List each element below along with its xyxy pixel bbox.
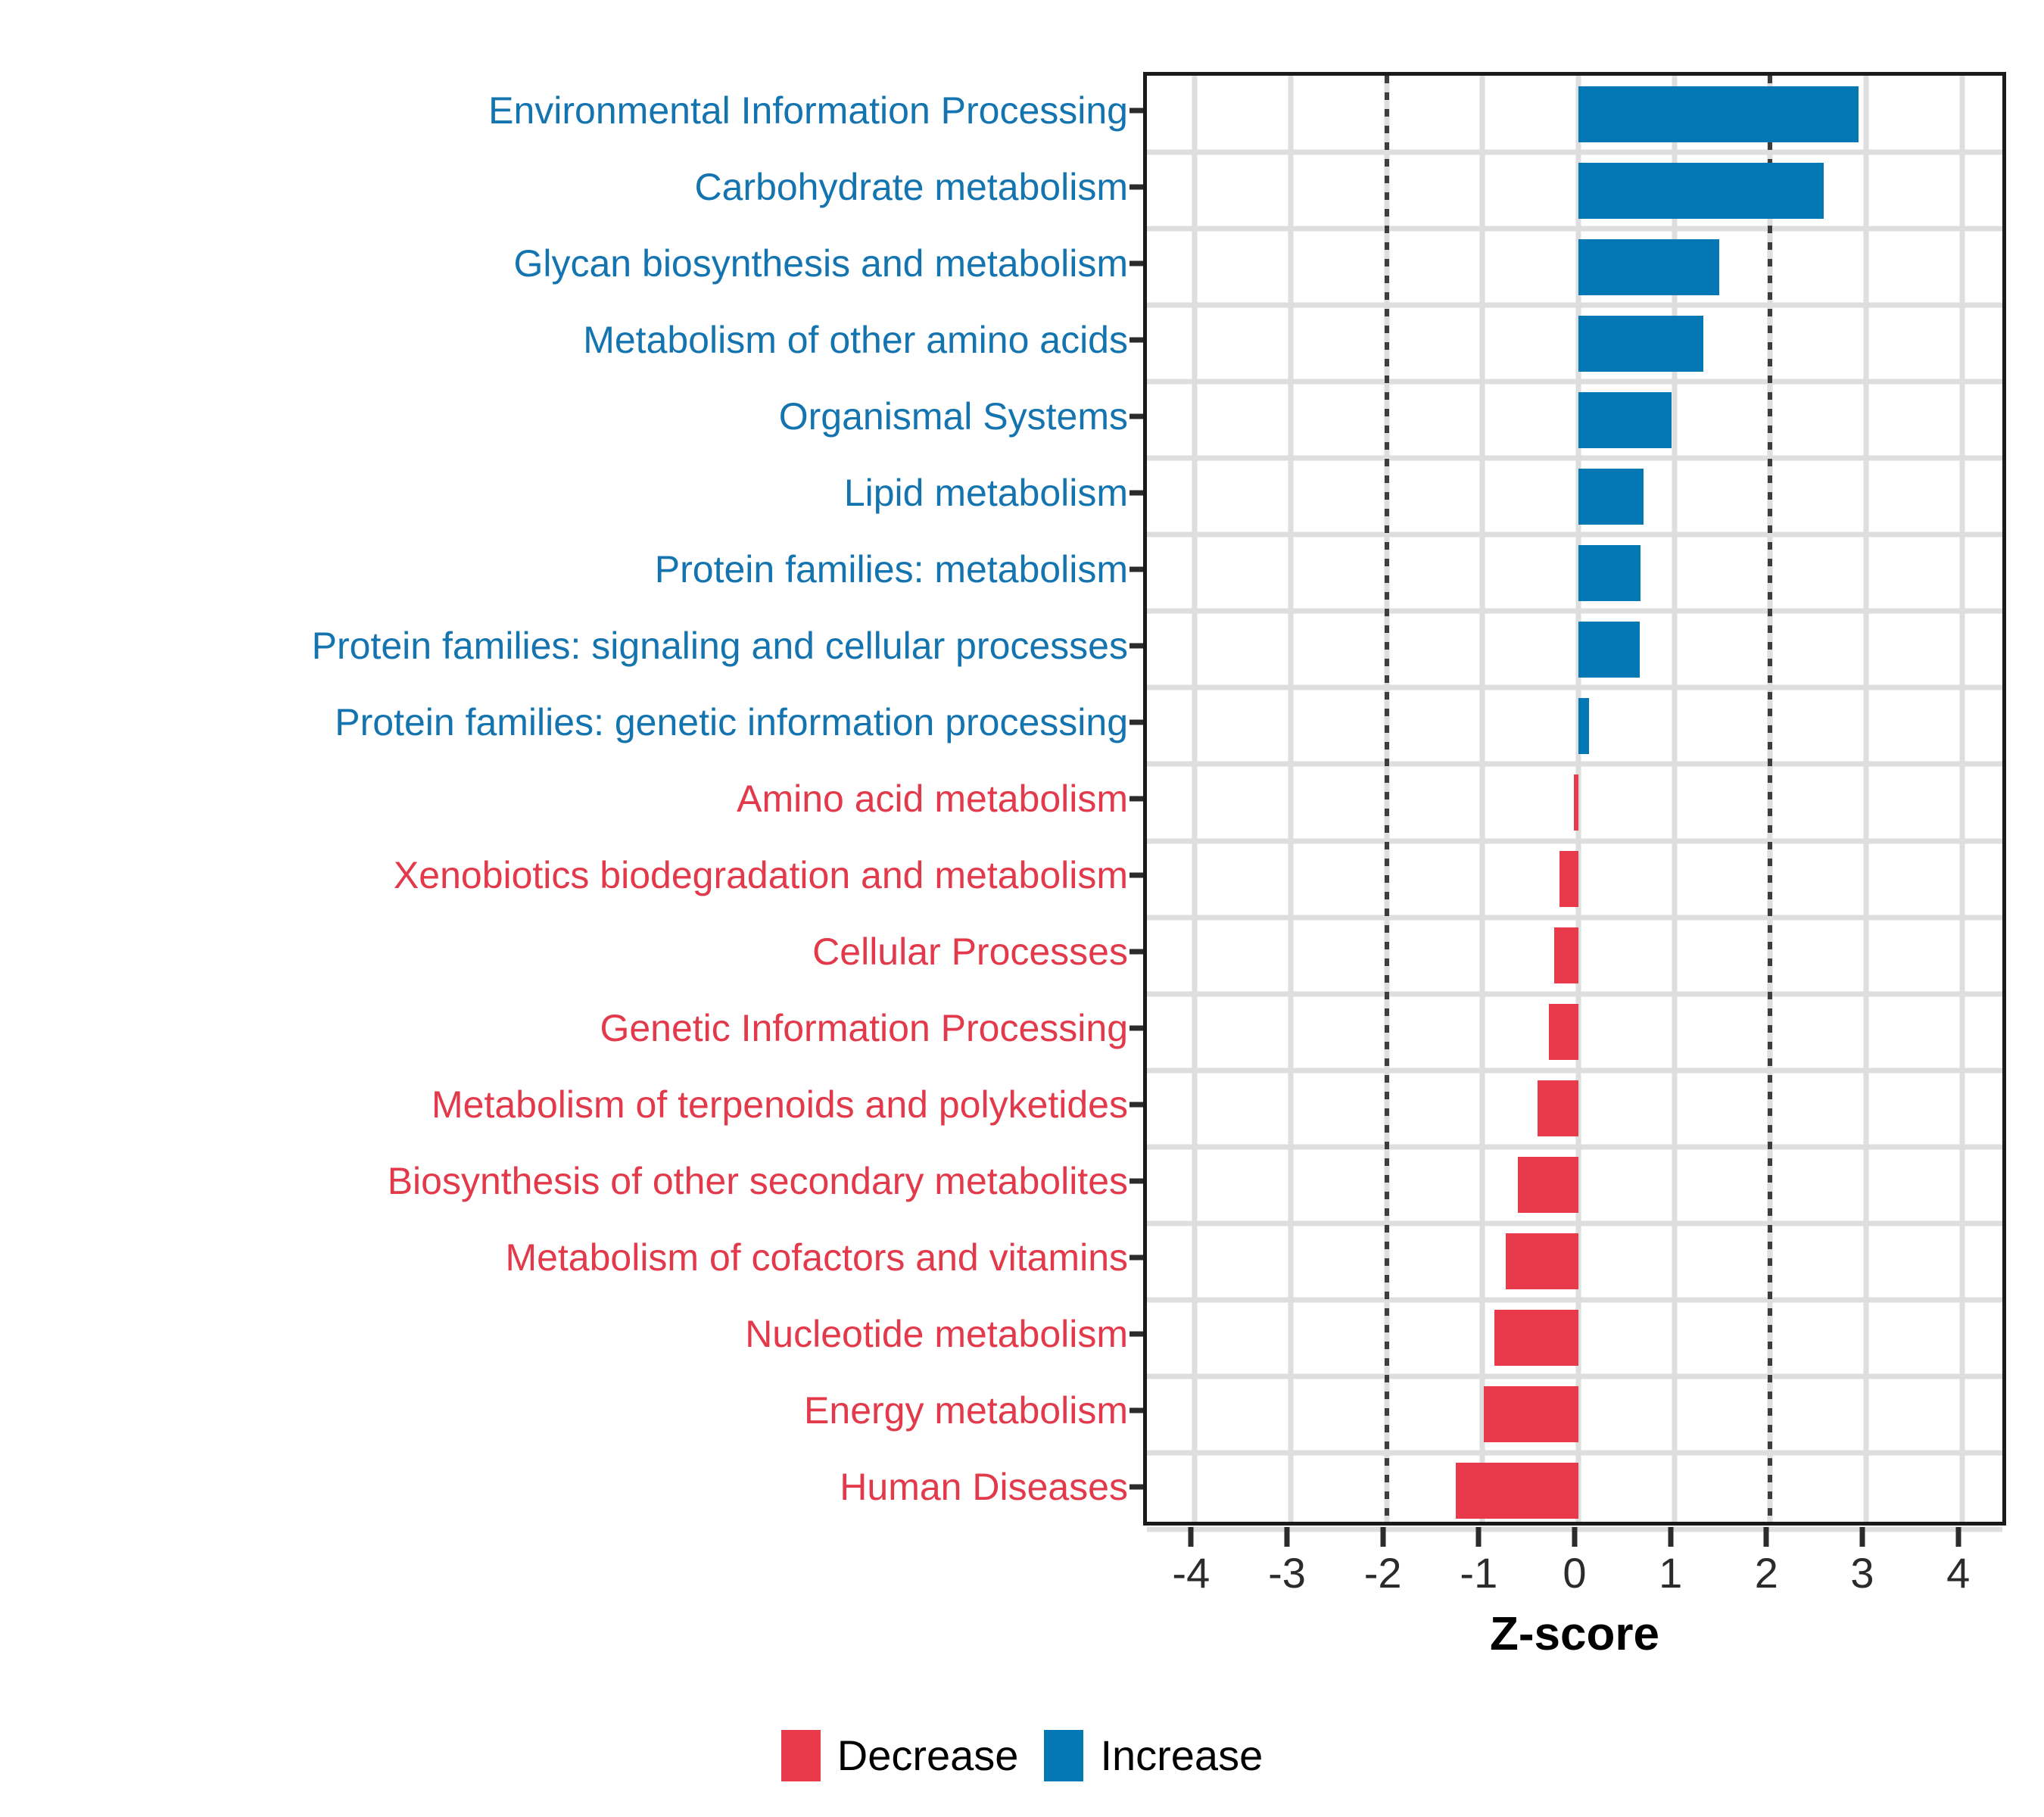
- y-axis-label: Metabolism of other amino acids: [45, 321, 1128, 359]
- bar: [1578, 316, 1703, 372]
- x-axis-title: Z-score: [1143, 1611, 2006, 1658]
- bar: [1578, 392, 1672, 448]
- y-axis-label: Biosynthesis of other secondary metaboli…: [45, 1162, 1128, 1200]
- y-axis-label: Amino acid metabolism: [45, 780, 1128, 818]
- x-axis-tick-label: -4: [1172, 1552, 1210, 1594]
- y-axis-category-labels: Environmental Information ProcessingCarb…: [45, 72, 1128, 1526]
- y-axis-tick: [1129, 643, 1143, 648]
- bar: [1574, 774, 1578, 831]
- x-axis-tick-label: -3: [1268, 1552, 1306, 1594]
- y-axis-label: Cellular Processes: [45, 933, 1128, 971]
- y-axis-tick: [1129, 719, 1143, 725]
- bar: [1578, 622, 1640, 678]
- x-axis-tick: [1285, 1527, 1290, 1547]
- y-axis-label: Protein families: genetic information pr…: [45, 703, 1128, 741]
- vertical-gridline: [1864, 76, 1869, 1522]
- y-axis-label: Nucleotide metabolism: [45, 1315, 1128, 1353]
- horizontal-gridline: [1147, 303, 2002, 308]
- y-axis-tick: [1129, 566, 1143, 572]
- x-axis-tick: [1955, 1527, 1961, 1547]
- y-axis-tick: [1129, 108, 1143, 113]
- y-axis-tick: [1129, 260, 1143, 266]
- y-axis-label: Energy metabolism: [45, 1392, 1128, 1429]
- y-axis-label: Human Diseases: [45, 1468, 1128, 1506]
- y-axis-tick: [1129, 1179, 1143, 1184]
- horizontal-gridline: [1147, 150, 2002, 155]
- y-axis-label: Organismal Systems: [45, 397, 1128, 435]
- bar: [1578, 698, 1589, 754]
- reference-line: [1768, 76, 1772, 1522]
- y-axis-tick: [1129, 337, 1143, 342]
- x-axis-tick-label: 0: [1563, 1552, 1586, 1594]
- x-axis-tick: [1764, 1527, 1769, 1547]
- bar: [1578, 86, 1859, 142]
- x-axis-tick: [1572, 1527, 1578, 1547]
- horizontal-gridline: [1147, 1373, 2002, 1379]
- vertical-gridline: [1959, 76, 1965, 1522]
- horizontal-gridline: [1147, 1220, 2002, 1226]
- x-axis-tick-label: 3: [1850, 1552, 1874, 1594]
- legend-item[interactable]: Increase: [1044, 1730, 1263, 1781]
- legend-item[interactable]: Decrease: [781, 1730, 1019, 1781]
- y-axis-label: Environmental Information Processing: [45, 92, 1128, 129]
- y-axis-label: Protein families: signaling and cellular…: [45, 627, 1128, 665]
- y-axis-label: Xenobiotics biodegradation and metabolis…: [45, 856, 1128, 894]
- vertical-gridline: [1480, 76, 1485, 1522]
- y-axis-label: Metabolism of cofactors and vitamins: [45, 1239, 1128, 1276]
- legend-label: Decrease: [837, 1734, 1019, 1777]
- bar: [1484, 1386, 1578, 1442]
- x-axis-tick-label: 4: [1946, 1552, 1970, 1594]
- horizontal-gridline: [1147, 838, 2002, 843]
- reference-line: [1385, 76, 1389, 1522]
- chart-root: Environmental Information ProcessingCarb…: [0, 0, 2044, 1817]
- horizontal-gridline: [1147, 1450, 2002, 1455]
- x-axis-tick-label: 2: [1755, 1552, 1778, 1594]
- bar: [1538, 1080, 1578, 1136]
- bar: [1456, 1463, 1578, 1519]
- horizontal-gridline: [1147, 915, 2002, 920]
- bar: [1549, 1004, 1578, 1060]
- bar: [1578, 469, 1644, 525]
- y-axis-tick: [1129, 1026, 1143, 1031]
- y-axis-label: Genetic Information Processing: [45, 1009, 1128, 1047]
- bar: [1518, 1157, 1578, 1213]
- horizontal-gridline: [1147, 991, 2002, 996]
- legend-swatch: [781, 1730, 821, 1781]
- bar: [1506, 1233, 1578, 1289]
- y-axis-label: Glycan biosynthesis and metabolism: [45, 245, 1128, 282]
- y-axis-tick: [1129, 873, 1143, 878]
- x-axis-tick: [1380, 1527, 1385, 1547]
- y-axis-tick: [1129, 1102, 1143, 1108]
- x-axis-tick-label: -1: [1460, 1552, 1497, 1594]
- horizontal-gridline: [1147, 762, 2002, 767]
- horizontal-gridline: [1147, 379, 2002, 385]
- bar: [1554, 927, 1578, 983]
- z-score-bar-chart: Environmental Information ProcessingCarb…: [0, 0, 2044, 1817]
- x-axis-tick-label: -2: [1364, 1552, 1402, 1594]
- y-axis-tick: [1129, 1332, 1143, 1337]
- bar: [1578, 545, 1640, 601]
- y-axis-tick: [1129, 490, 1143, 495]
- y-axis-tick: [1129, 1408, 1143, 1413]
- horizontal-gridline: [1147, 532, 2002, 538]
- vertical-gridline: [1288, 76, 1294, 1522]
- y-axis-tick: [1129, 413, 1143, 419]
- plot-panel: [1143, 72, 2006, 1526]
- y-axis-tick: [1129, 949, 1143, 955]
- y-axis-tick: [1129, 796, 1143, 802]
- y-axis-tick: [1129, 184, 1143, 189]
- horizontal-gridline: [1147, 685, 2002, 690]
- horizontal-gridline: [1147, 609, 2002, 614]
- y-axis-label: Metabolism of terpenoids and polyketides: [45, 1086, 1128, 1124]
- x-axis-tick: [1189, 1527, 1194, 1547]
- y-axis-label: Carbohydrate metabolism: [45, 168, 1128, 206]
- horizontal-gridline: [1147, 1144, 2002, 1149]
- bar: [1578, 163, 1824, 219]
- bar: [1494, 1310, 1578, 1366]
- horizontal-gridline: [1147, 456, 2002, 461]
- horizontal-gridline: [1147, 1067, 2002, 1073]
- horizontal-gridline: [1147, 1297, 2002, 1302]
- y-axis-tick: [1129, 1485, 1143, 1490]
- x-axis-tick: [1860, 1527, 1865, 1547]
- legend-label: Increase: [1100, 1734, 1263, 1777]
- horizontal-gridline: [1147, 226, 2002, 232]
- vertical-gridline: [1192, 76, 1198, 1522]
- legend-swatch: [1044, 1730, 1083, 1781]
- bar: [1559, 851, 1578, 907]
- bar: [1578, 239, 1719, 295]
- x-axis-tick-label: 1: [1659, 1552, 1682, 1594]
- chart-legend: DecreaseIncrease: [0, 1730, 2044, 1781]
- y-axis-label: Protein families: metabolism: [45, 550, 1128, 588]
- x-axis-tick: [1476, 1527, 1482, 1547]
- x-axis-tick: [1668, 1527, 1673, 1547]
- y-axis-tick: [1129, 1255, 1143, 1261]
- y-axis-label: Lipid metabolism: [45, 474, 1128, 512]
